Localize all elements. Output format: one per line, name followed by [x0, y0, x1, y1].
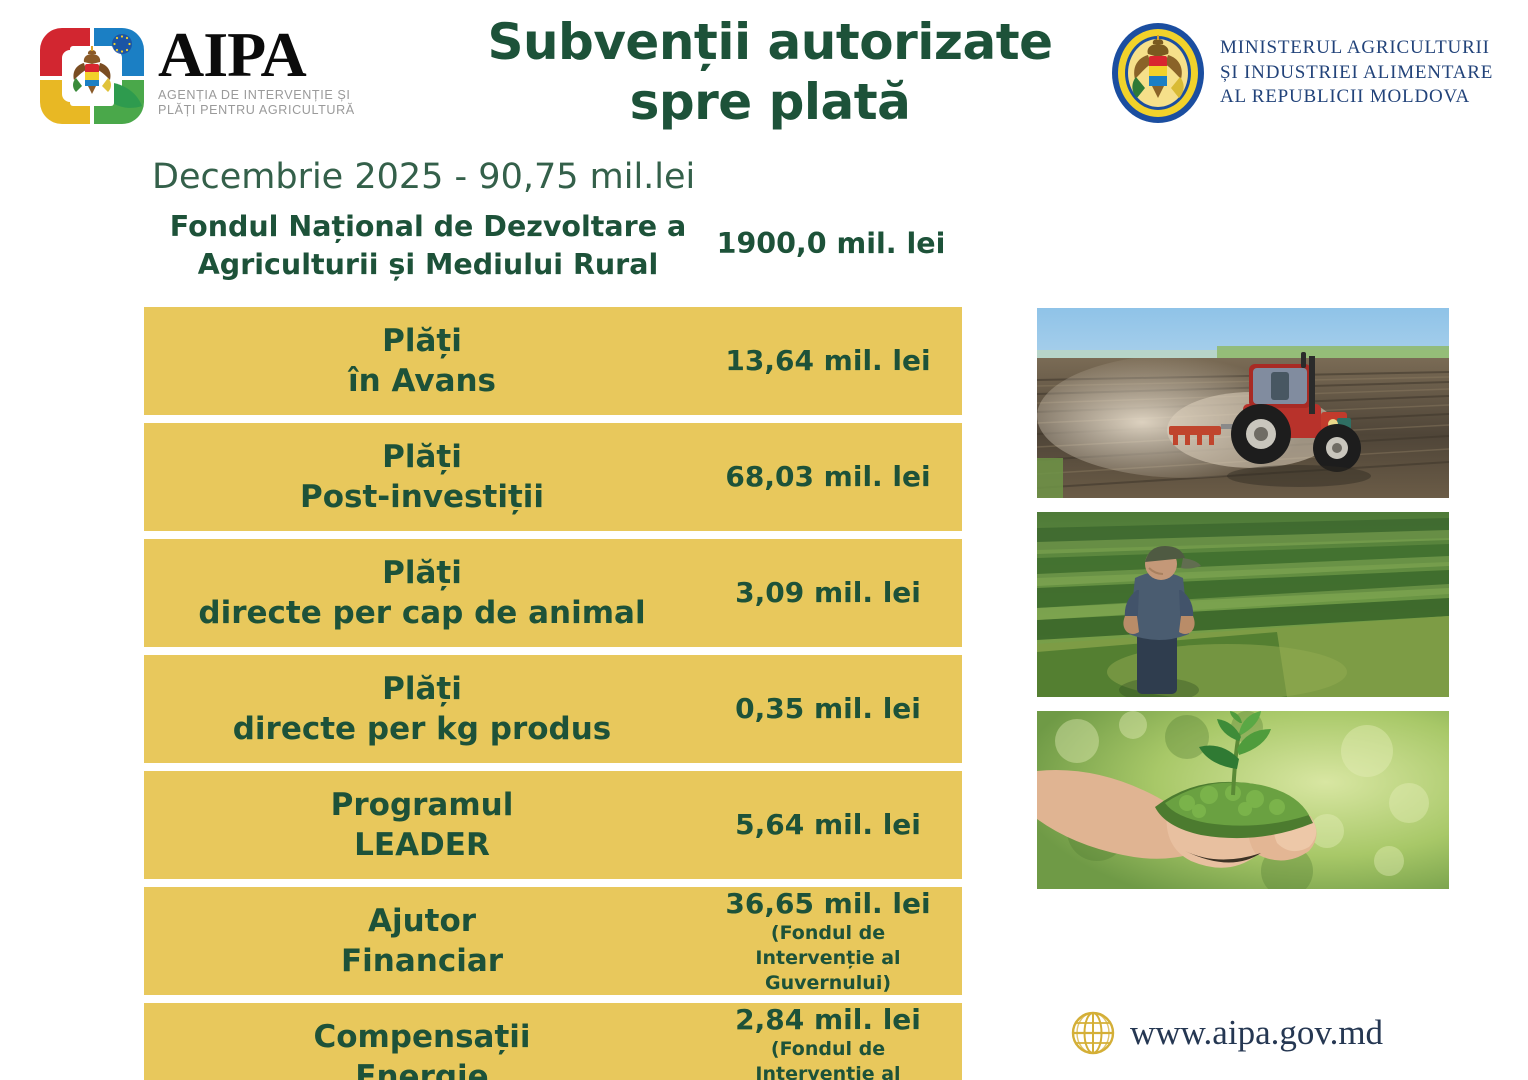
row-label-line1: Plăți [154, 553, 690, 593]
row-label: Ajutor Financiar [144, 901, 700, 981]
row-value-amount: 13,64 mil. lei [700, 344, 956, 378]
aipa-tagline: AGENȚIA DE INTERVENȚIE ȘI PLĂȚI PENTRU A… [158, 88, 370, 118]
ministry-name: MINISTERUL AGRICULTURII ȘI INDUSTRIEI AL… [1220, 36, 1493, 110]
row-value-note-line2: Intervenție al [700, 1062, 956, 1080]
row-label: Plăți directe per kg produs [144, 669, 700, 749]
page-title-line1: Subvenții autorizate [430, 12, 1110, 72]
row-value-amount: 5,64 mil. lei [700, 808, 956, 842]
row-value-note: (Fondul de Intervenție al Guvernului) [700, 1037, 956, 1080]
row-label-line2: directe per cap de animal [154, 593, 690, 633]
row-value: 13,64 mil. lei [700, 344, 962, 378]
fund-name-line2: Agriculturii și Mediului Rural [148, 246, 708, 284]
moldova-state-seal-icon [1110, 22, 1206, 124]
infographic-poster: AIPA AGENȚIA DE INTERVENȚIE ȘI PLĂȚI PEN… [0, 0, 1528, 1080]
aipa-acronym: AIPA [158, 24, 370, 86]
row-value: 2,84 mil. lei (Fondul de Intervenție al … [700, 1003, 962, 1080]
ministry-logo-block: MINISTERUL AGRICULTURII ȘI INDUSTRIEI AL… [1110, 20, 1500, 130]
table-row: Plăți directe per cap de animal 3,09 mil… [144, 539, 962, 647]
row-value-amount: 0,35 mil. lei [700, 692, 956, 726]
subsidy-rows: Plăți în Avans 13,64 mil. lei Plăți Post… [144, 307, 962, 1080]
globe-icon [1070, 1010, 1116, 1056]
row-value: 5,64 mil. lei [700, 808, 962, 842]
table-row: Compensații Energie 2,84 mil. lei (Fondu… [144, 1003, 962, 1080]
row-value: 0,35 mil. lei [700, 692, 962, 726]
photo-hands-holding-seedling-in-moss [1037, 711, 1449, 889]
aipa-tagline-line2: PLĂȚI PENTRU AGRICULTURĂ [158, 103, 370, 118]
ministry-line1: MINISTERUL AGRICULTURII [1220, 36, 1493, 61]
row-value-amount: 3,09 mil. lei [700, 576, 956, 610]
aipa-wordmark: AIPA AGENȚIA DE INTERVENȚIE ȘI PLĂȚI PEN… [158, 24, 370, 118]
page-title-line2: spre plată [430, 72, 1110, 132]
row-label-line2: în Avans [154, 361, 690, 401]
row-label-line2: Post-investiții [154, 477, 690, 517]
table-row: Plăți în Avans 13,64 mil. lei [144, 307, 962, 415]
row-value: 68,03 mil. lei [700, 460, 962, 494]
aipa-petal-crest-logo-icon [32, 20, 152, 132]
row-label-line2: Financiar [154, 941, 690, 981]
row-label-line1: Plăți [154, 321, 690, 361]
aipa-logo-block: AIPA AGENȚIA DE INTERVENȚIE ȘI PLĂȚI PEN… [32, 18, 372, 138]
row-value-amount: 36,65 mil. lei [700, 887, 956, 921]
row-value-note-line1: (Fondul de [700, 921, 956, 946]
row-label: Plăți în Avans [144, 321, 700, 401]
period-total-line: Decembrie 2025 - 90,75 mil.lei [152, 156, 695, 198]
row-label-line2: directe per kg produs [154, 709, 690, 749]
table-row: Plăți Post-investiții 68,03 mil. lei [144, 423, 962, 531]
table-row: Plăți directe per kg produs 0,35 mil. le… [144, 655, 962, 763]
row-label-line1: Compensații [154, 1017, 690, 1057]
row-label-line2: LEADER [154, 825, 690, 865]
page-title: Subvenții autorizate spre plată [430, 12, 1110, 132]
row-label-line1: Ajutor [154, 901, 690, 941]
row-label: Plăți directe per cap de animal [144, 553, 700, 633]
row-label-line2: Energie [154, 1057, 690, 1080]
website-url[interactable]: www.aipa.gov.md [1130, 1013, 1383, 1053]
table-row: Ajutor Financiar 36,65 mil. lei (Fondul … [144, 887, 962, 995]
row-label-line1: Programul [154, 785, 690, 825]
ministry-line3: AL REPUBLICII MOLDOVA [1220, 85, 1493, 110]
row-value-note-line3: Guvernului) [700, 971, 956, 996]
website-footer[interactable]: www.aipa.gov.md [1070, 1010, 1383, 1056]
row-label-line1: Plăți [154, 437, 690, 477]
row-value: 36,65 mil. lei (Fondul de Intervenție al… [700, 887, 962, 996]
row-value-note-line2: Intervenție al [700, 946, 956, 971]
row-label: Compensații Energie [144, 1017, 700, 1080]
photo-red-tractor-plowing-dusty-field [1037, 308, 1449, 498]
row-label: Plăți Post-investiții [144, 437, 700, 517]
fund-name-line1: Fondul Național de Dezvoltare a [148, 208, 708, 246]
photo-farmer-standing-in-mown-green-field [1037, 512, 1449, 697]
row-label-line1: Plăți [154, 669, 690, 709]
row-value-note-line1: (Fondul de [700, 1037, 956, 1062]
table-row: Programul LEADER 5,64 mil. lei [144, 771, 962, 879]
aipa-tagline-line1: AGENȚIA DE INTERVENȚIE ȘI [158, 88, 370, 103]
row-value-amount: 68,03 mil. lei [700, 460, 956, 494]
row-value-note: (Fondul de Intervenție al Guvernului) [700, 921, 956, 996]
ministry-line2: ȘI INDUSTRIEI ALIMENTARE [1220, 61, 1493, 86]
row-value: 3,09 mil. lei [700, 576, 962, 610]
row-label: Programul LEADER [144, 785, 700, 865]
fund-name: Fondul Național de Dezvoltare a Agricult… [148, 208, 708, 284]
fund-total-value: 1900,0 mil. lei [700, 226, 962, 262]
row-value-amount: 2,84 mil. lei [700, 1003, 956, 1037]
